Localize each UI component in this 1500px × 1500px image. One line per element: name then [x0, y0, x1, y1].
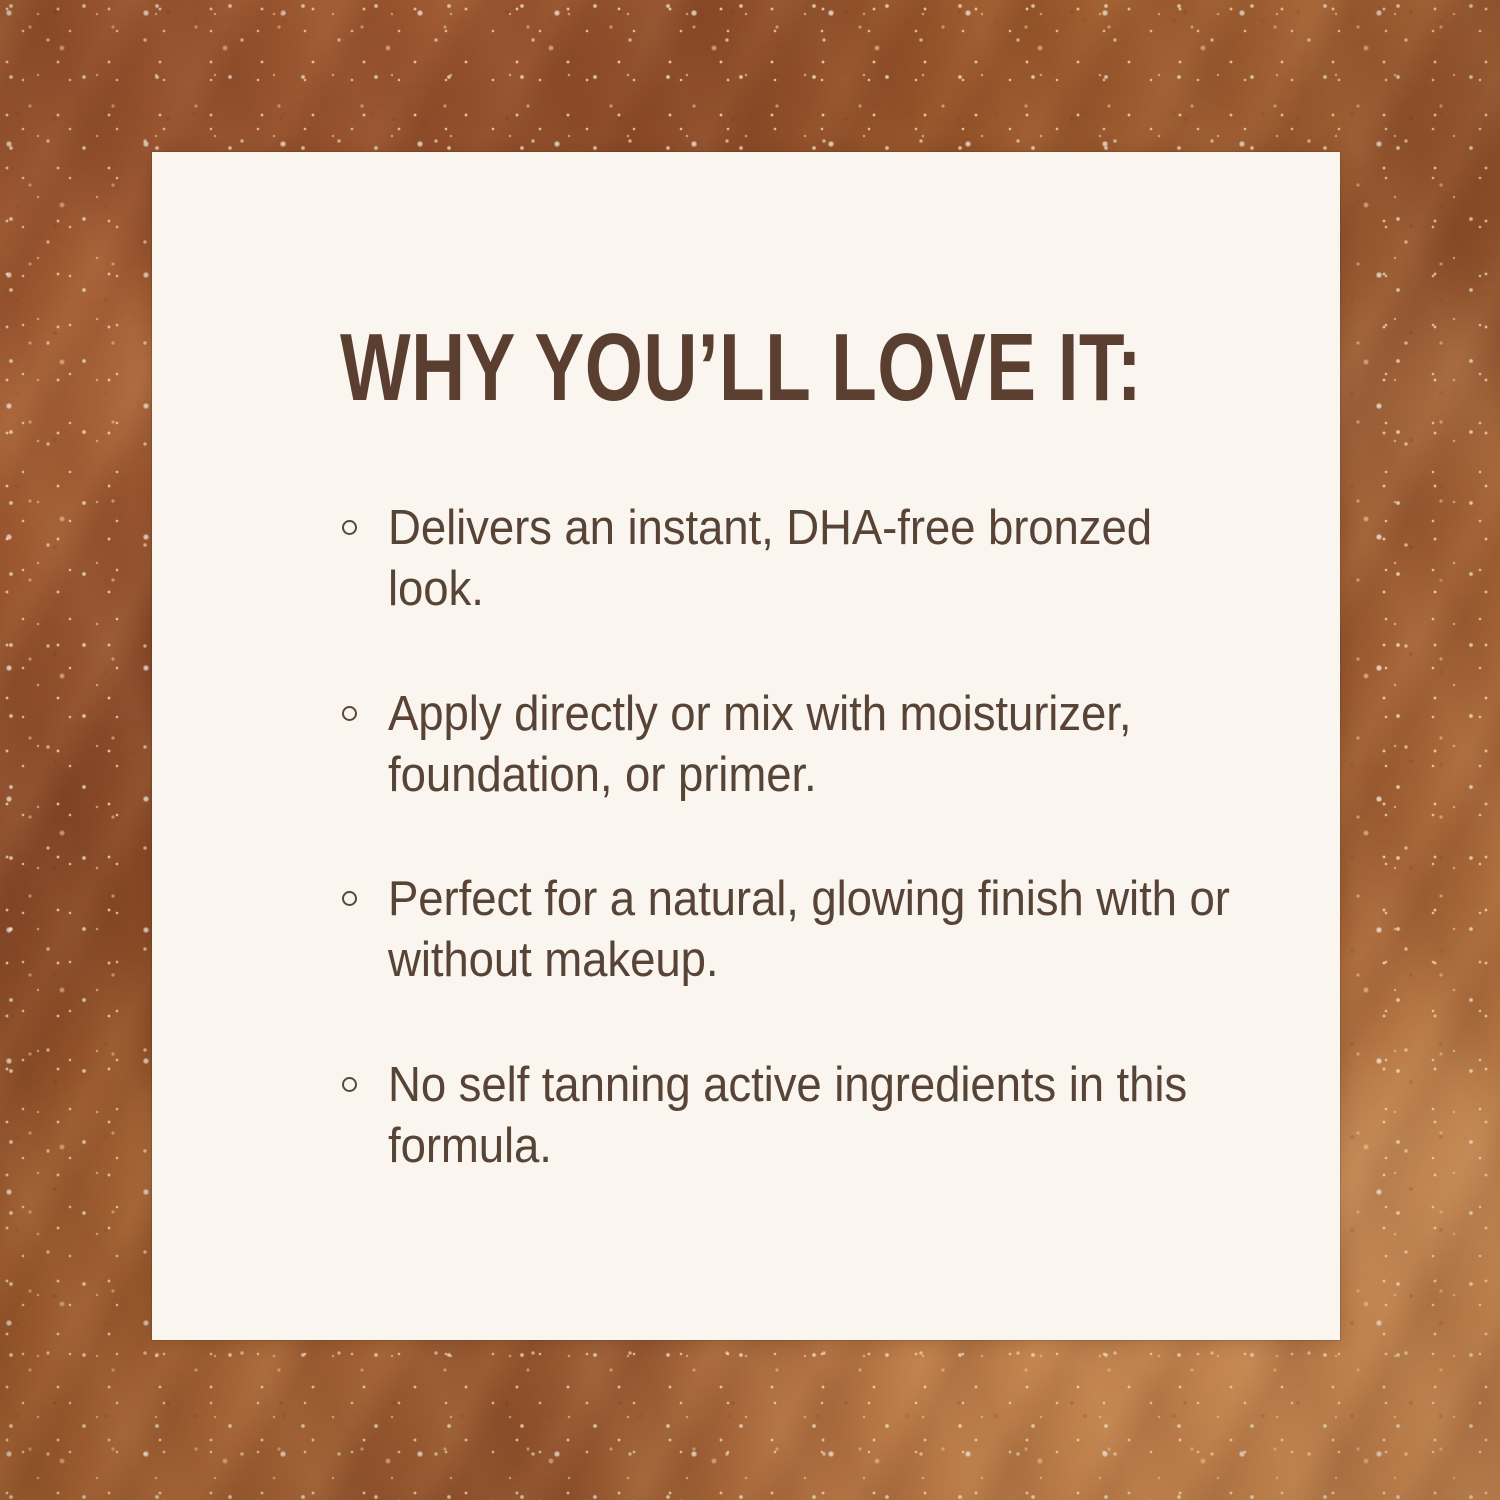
content-card: WHY YOU’LL LOVE IT: Delivers an instant,… [152, 152, 1340, 1340]
circle-bullet-icon [342, 520, 357, 535]
circle-bullet-icon [342, 706, 357, 721]
list-item: Delivers an instant, DHA-free bronzed lo… [340, 498, 1260, 620]
benefits-list: Delivers an instant, DHA-free bronzed lo… [340, 498, 1260, 1176]
circle-bullet-icon [342, 891, 357, 906]
circle-bullet-icon [342, 1077, 357, 1092]
benefit-text: No self tanning active ingredients in th… [388, 1055, 1260, 1177]
product-benefits-graphic: WHY YOU’LL LOVE IT: Delivers an instant,… [0, 0, 1500, 1500]
benefit-text: Perfect for a natural, glowing finish wi… [388, 869, 1260, 991]
list-item: No self tanning active ingredients in th… [340, 1055, 1260, 1177]
list-item: Perfect for a natural, glowing finish wi… [340, 869, 1260, 991]
benefit-text: Apply directly or mix with moisturizer, … [388, 684, 1260, 806]
list-item: Apply directly or mix with moisturizer, … [340, 684, 1260, 806]
benefit-text: Delivers an instant, DHA-free bronzed lo… [388, 498, 1260, 620]
page-title: WHY YOU’LL LOVE IT: [340, 324, 1058, 412]
